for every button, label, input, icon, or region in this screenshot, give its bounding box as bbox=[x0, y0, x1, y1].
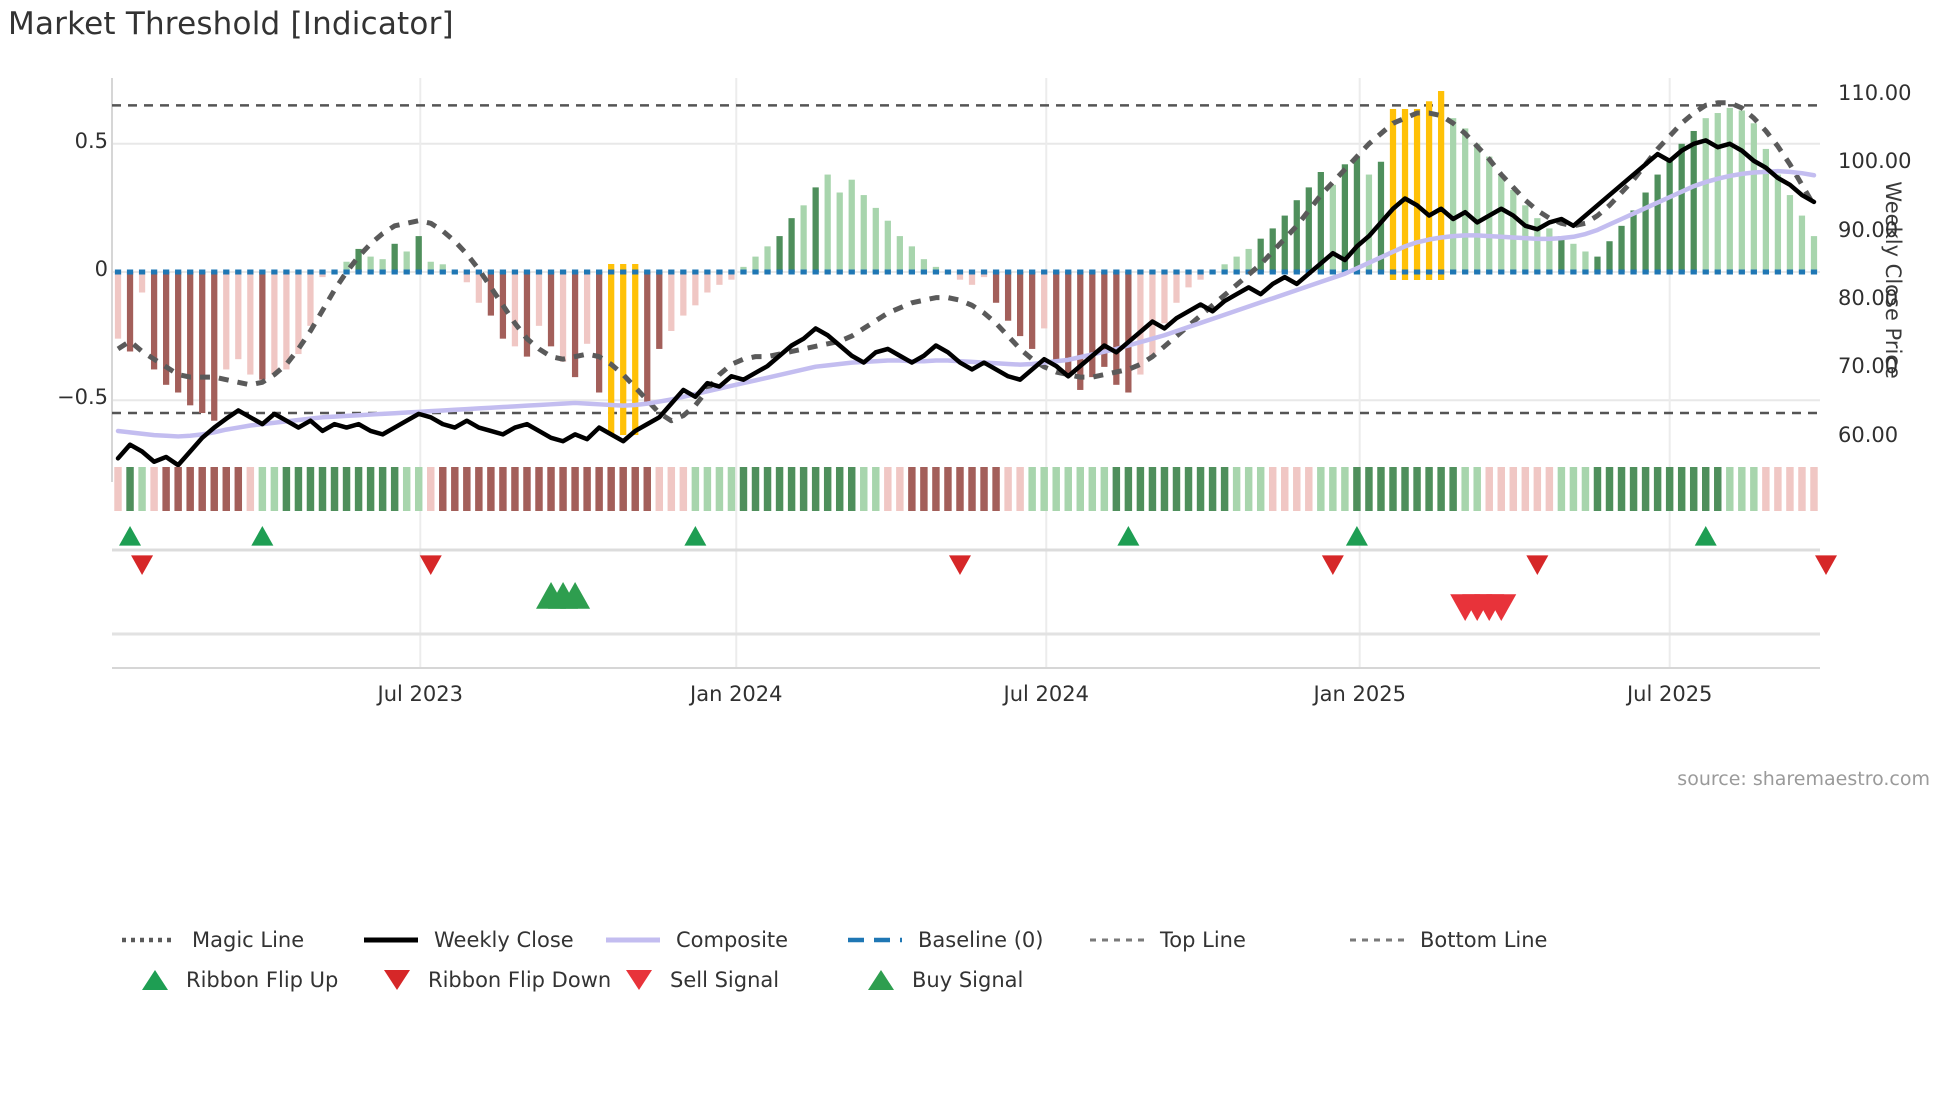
legend-label: Baseline (0) bbox=[918, 928, 1043, 952]
legend-item-top-line[interactable]: Top Line bbox=[1088, 920, 1246, 960]
legend-label: Ribbon Flip Up bbox=[186, 968, 338, 992]
y-axis-left-tick: 0 bbox=[95, 257, 108, 281]
solid-line-swatch bbox=[604, 929, 662, 951]
legend-item-bottom-line[interactable]: Bottom Line bbox=[1348, 920, 1547, 960]
x-axis-tick: Jul 2023 bbox=[330, 682, 510, 706]
chart-plot-area bbox=[112, 72, 1820, 820]
legend-row-primary: Magic LineWeekly CloseCompositeBaseline … bbox=[120, 920, 1920, 960]
triangle-down-icon bbox=[380, 970, 414, 990]
triangle-up-icon bbox=[864, 970, 898, 990]
triangle-down-icon bbox=[622, 970, 656, 990]
y-axis-right-tick: 90.00 bbox=[1838, 218, 1898, 242]
legend-row-signals: Ribbon Flip UpRibbon Flip DownSell Signa… bbox=[120, 960, 1920, 1000]
triangle-up-icon bbox=[138, 970, 172, 990]
legend-item-sell-signal[interactable]: Sell Signal bbox=[622, 960, 779, 1000]
legend-label: Sell Signal bbox=[670, 968, 779, 992]
legend-label: Ribbon Flip Down bbox=[428, 968, 611, 992]
legend-label: Composite bbox=[676, 928, 788, 952]
dotted-line-swatch bbox=[120, 929, 178, 951]
chart-legend: Magic LineWeekly CloseCompositeBaseline … bbox=[120, 920, 1920, 1000]
y-axis-right-tick: 80.00 bbox=[1838, 286, 1898, 310]
x-axis-tick: Jul 2025 bbox=[1580, 682, 1760, 706]
legend-label: Magic Line bbox=[192, 928, 304, 952]
dashed-line-swatch bbox=[1088, 929, 1146, 951]
y-axis-right-tick: 110.00 bbox=[1838, 81, 1911, 105]
x-axis-tick: Jul 2024 bbox=[956, 682, 1136, 706]
signal-markers-layer bbox=[112, 72, 1820, 820]
legend-item-composite[interactable]: Composite bbox=[604, 920, 788, 960]
page-title: Market Threshold [Indicator] bbox=[8, 6, 454, 42]
x-axis-tick: Jan 2025 bbox=[1270, 682, 1450, 706]
dashed-line-swatch bbox=[846, 929, 904, 951]
legend-label: Bottom Line bbox=[1420, 928, 1547, 952]
legend-item-buy-signal[interactable]: Buy Signal bbox=[864, 960, 1023, 1000]
x-axis-tick: Jan 2024 bbox=[646, 682, 826, 706]
legend-item-magic-line[interactable]: Magic Line bbox=[120, 920, 304, 960]
solid-line-swatch bbox=[362, 929, 420, 951]
legend-item-baseline-0[interactable]: Baseline (0) bbox=[846, 920, 1043, 960]
legend-label: Buy Signal bbox=[912, 968, 1023, 992]
y-axis-left-tick: 0.5 bbox=[75, 129, 108, 153]
y-axis-right-tick: 70.00 bbox=[1838, 354, 1898, 378]
y-axis-right-tick: 60.00 bbox=[1838, 423, 1898, 447]
legend-label: Weekly Close bbox=[434, 928, 574, 952]
dashed-line-swatch bbox=[1348, 929, 1406, 951]
chart-page: Market Threshold [Indicator] Market Thre… bbox=[0, 0, 1960, 1102]
y-axis-right-tick: 100.00 bbox=[1838, 149, 1911, 173]
legend-label: Top Line bbox=[1160, 928, 1246, 952]
y-axis-left-tick: −0.5 bbox=[57, 385, 108, 409]
legend-item-ribbon-flip-down[interactable]: Ribbon Flip Down bbox=[380, 960, 611, 1000]
legend-item-weekly-close[interactable]: Weekly Close bbox=[362, 920, 574, 960]
legend-item-ribbon-flip-up[interactable]: Ribbon Flip Up bbox=[138, 960, 338, 1000]
